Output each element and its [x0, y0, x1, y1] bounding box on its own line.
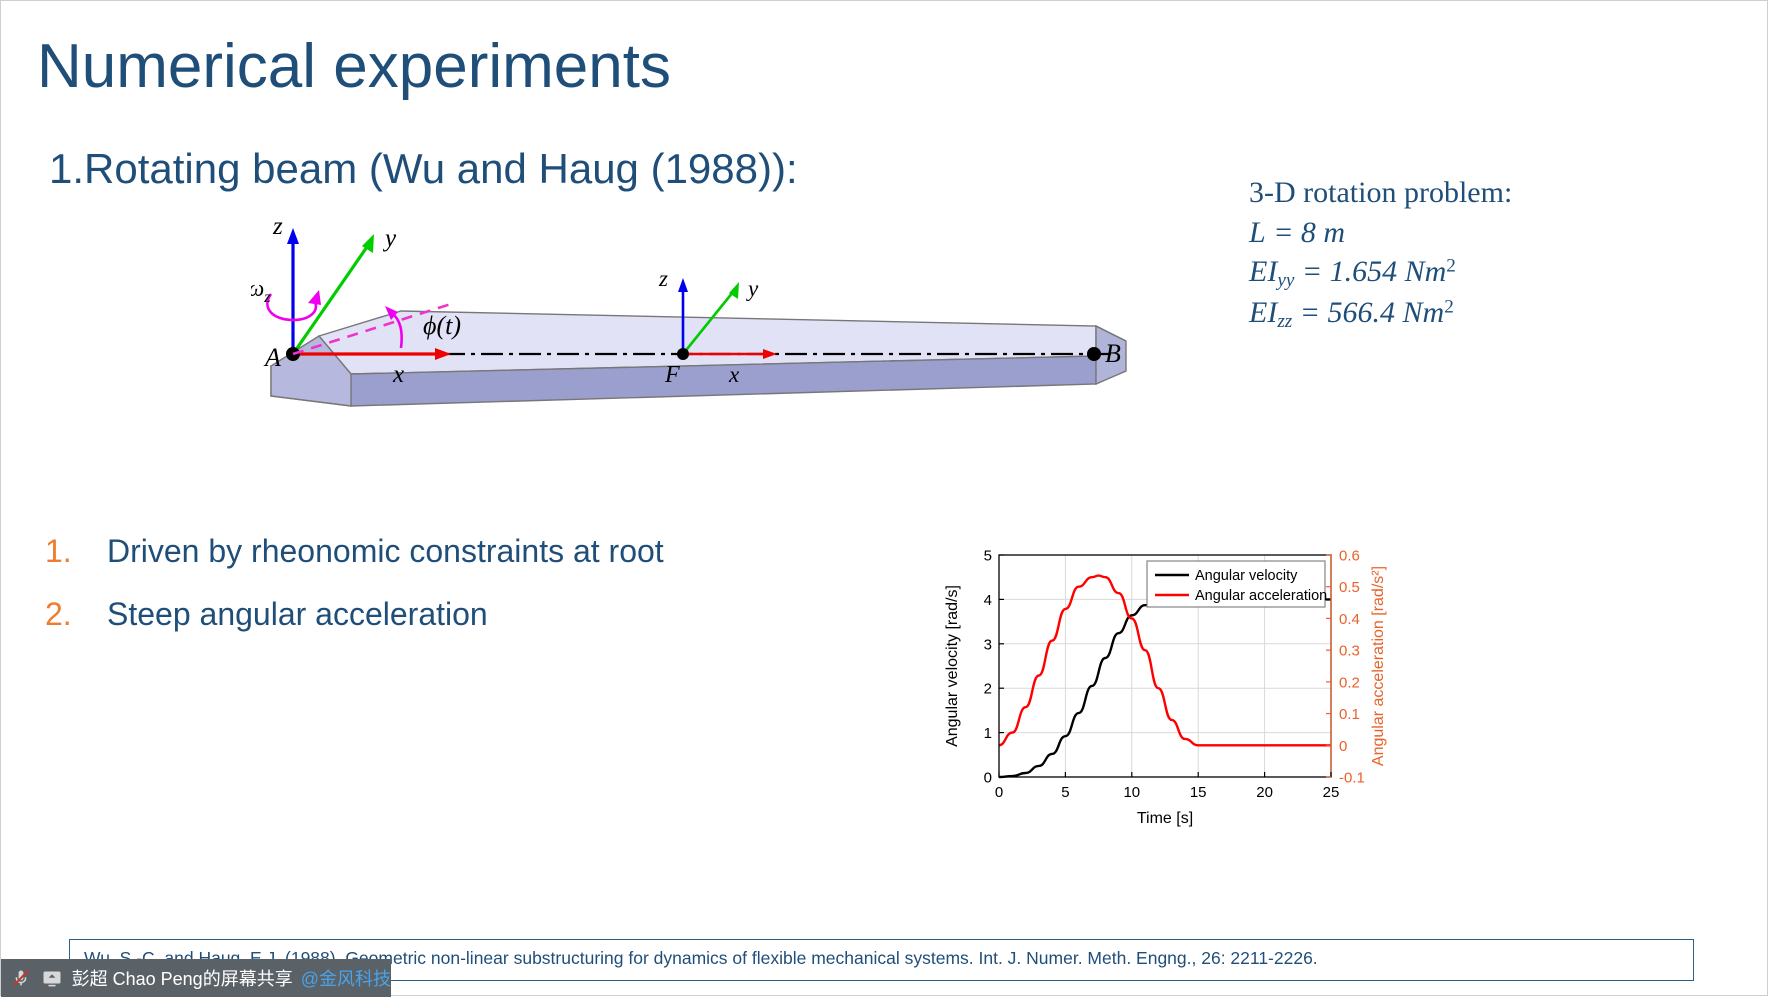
- microphone-muted-icon[interactable]: [9, 965, 32, 991]
- parameters-heading: 3-D rotation problem:: [1249, 173, 1512, 213]
- list-item: 2. Steep angular acceleration: [45, 596, 664, 633]
- length-symbol: L: [1249, 216, 1266, 249]
- ei-zz-subscript: zz: [1277, 311, 1292, 332]
- parameter-ei-zz: EIzz = 566.4 Nm2: [1249, 293, 1512, 334]
- chart-y2tick-label: 0.3: [1339, 643, 1360, 660]
- chart-xtick-label: 25: [1323, 784, 1340, 801]
- ei-zz-exponent: 2: [1444, 297, 1454, 318]
- chart-y2tick-label: 0.4: [1339, 611, 1360, 628]
- point-f-marker: [677, 348, 689, 360]
- page-title: Numerical experiments: [37, 31, 671, 102]
- chart-legend-label: Angular acceleration: [1195, 588, 1327, 604]
- chart-y2tick-label: 0: [1339, 738, 1347, 755]
- chart-y2tick-label: -0.1: [1339, 770, 1365, 787]
- parameters-block: 3-D rotation problem: L = 8 m EIyy = 1.6…: [1249, 173, 1512, 334]
- point-a-label: A: [263, 343, 281, 372]
- chart-ytick-label: 2: [984, 681, 992, 698]
- omega-label: ωz: [251, 276, 271, 306]
- list-item-label: Driven by rheonomic constraints at root: [107, 533, 664, 570]
- chart-ytick-label: 5: [984, 548, 992, 565]
- point-b-marker: [1087, 347, 1101, 361]
- chart-y2tick-label: 0.1: [1339, 706, 1360, 723]
- chart-xtick-label: 0: [995, 784, 1003, 801]
- section-subtitle: 1.Rotating beam (Wu and Haug (1988)):: [49, 145, 798, 193]
- mid-x-label: x: [728, 362, 740, 387]
- chart-xtick-label: 15: [1190, 784, 1207, 801]
- rotating-beam-diagram: z y x A ωz ϕ(t): [251, 216, 1151, 446]
- root-z-arrowhead: [287, 228, 299, 244]
- length-value: = 8 m: [1273, 216, 1345, 249]
- point-f-label: F: [664, 362, 680, 388]
- chart-ylabel: Angular velocity [rad/s]: [944, 585, 961, 747]
- parameter-length: L = 8 m: [1249, 213, 1512, 253]
- chart-xtick-label: 20: [1256, 784, 1273, 801]
- screen-share-icon[interactable]: [40, 965, 63, 991]
- root-z-label: z: [272, 216, 283, 240]
- list-item-number: 1.: [45, 533, 107, 570]
- root-y-label: y: [382, 225, 397, 252]
- parameter-ei-yy: EIyy = 1.654 Nm2: [1249, 252, 1512, 293]
- chart-svg: 0510152025012345-0.100.10.20.30.40.50.6T…: [931, 541, 1401, 841]
- angular-motion-chart: 0510152025012345-0.100.10.20.30.40.50.6T…: [931, 541, 1401, 841]
- chart-y2tick-label: 0.2: [1339, 674, 1360, 691]
- slide-canvas: Numerical experiments 1.Rotating beam (W…: [0, 0, 1768, 996]
- chart-ytick-label: 3: [984, 636, 992, 653]
- phi-label: ϕ(t): [423, 311, 461, 340]
- chart-xtick-label: 10: [1123, 784, 1140, 801]
- mid-z-arrowhead: [678, 278, 688, 292]
- ei-zz-symbol: EI: [1249, 296, 1277, 329]
- mid-z-label: z: [658, 266, 668, 291]
- chart-y2label: Angular acceleration [rad/s²]: [1370, 566, 1387, 766]
- list-item-number: 2.: [45, 596, 107, 633]
- screen-share-brand: @金风科技: [301, 965, 391, 991]
- ei-yy-exponent: 2: [1446, 256, 1456, 277]
- ei-yy-value: = 1.654 Nm: [1302, 255, 1446, 288]
- omega-arrowhead: [308, 290, 321, 305]
- screen-share-bar[interactable]: 彭超 Chao Peng的屏幕共享 @金风科技: [1, 959, 391, 997]
- ei-yy-symbol: EI: [1249, 255, 1277, 288]
- chart-ytick-label: 0: [984, 770, 992, 787]
- chart-ytick-label: 1: [984, 725, 992, 742]
- bullet-list: 1. Driven by rheonomic constraints at ro…: [45, 533, 664, 659]
- ei-zz-value: = 566.4 Nm: [1300, 296, 1444, 329]
- list-item: 1. Driven by rheonomic constraints at ro…: [45, 533, 664, 570]
- chart-ytick-label: 4: [984, 592, 992, 609]
- chart-xtick-label: 5: [1061, 784, 1069, 801]
- mid-y-label: y: [746, 276, 759, 301]
- ei-yy-subscript: yy: [1277, 270, 1294, 291]
- screen-share-label: 彭超 Chao Peng的屏幕共享: [72, 965, 293, 991]
- point-b-label: B: [1105, 339, 1121, 368]
- root-x-label: x: [392, 361, 404, 388]
- list-item-label: Steep angular acceleration: [107, 596, 488, 633]
- chart-y2tick-label: 0.6: [1339, 548, 1360, 565]
- chart-y2tick-label: 0.5: [1339, 579, 1360, 596]
- chart-xlabel: Time [s]: [1137, 810, 1193, 827]
- chart-legend-label: Angular velocity: [1195, 568, 1298, 584]
